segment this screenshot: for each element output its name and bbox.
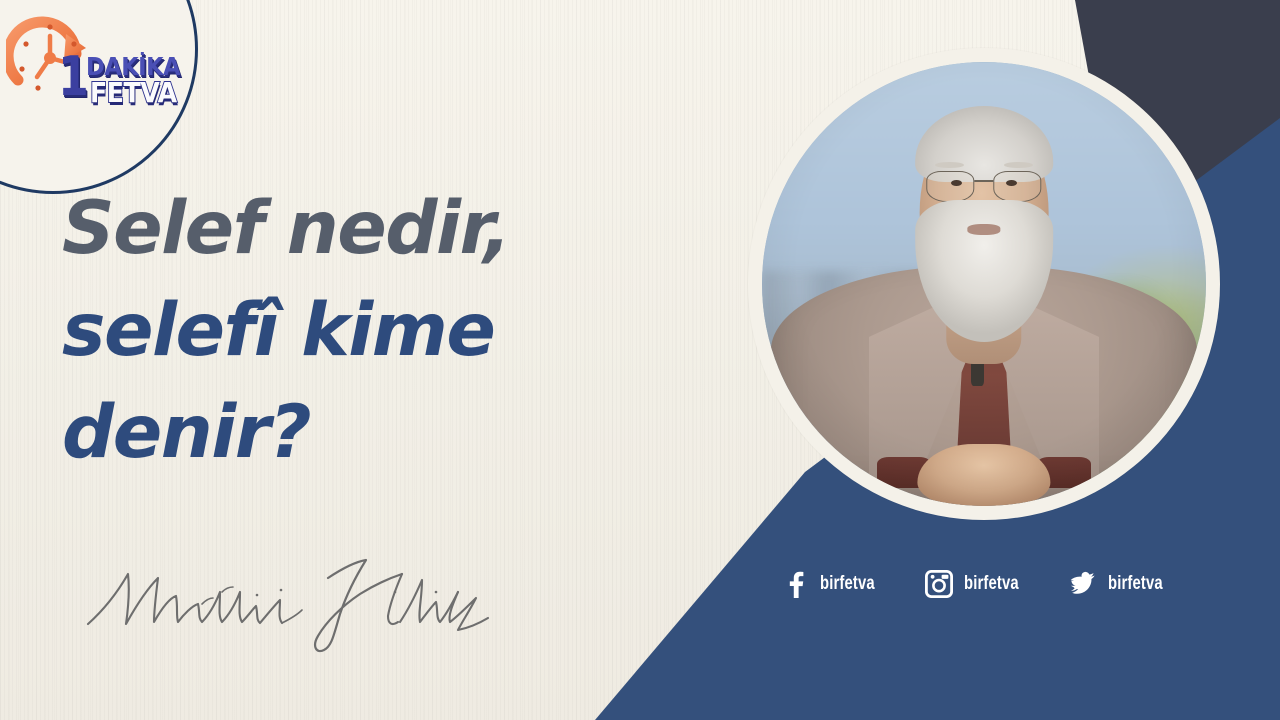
headline-line-3: denir?	[62, 382, 682, 484]
twitter-handle: birfetva	[1108, 573, 1163, 595]
portrait-photo	[762, 62, 1206, 506]
speaker-signature	[84, 548, 504, 656]
social-item-facebook[interactable]: birfetva	[780, 569, 890, 599]
instagram-icon	[924, 569, 954, 599]
signature-script	[84, 548, 504, 656]
headline-line-2: selefî kime	[62, 280, 682, 382]
logo-word-fetva: FETVA	[90, 79, 177, 107]
logo-wordmark: 1 DAKİKA FETVA	[58, 44, 186, 116]
twitter-bird-icon	[1068, 569, 1098, 599]
social-item-instagram[interactable]: birfetva	[924, 569, 1034, 599]
headline-line-1: Selef nedir,	[62, 178, 682, 280]
instagram-handle: birfetva	[964, 573, 1019, 595]
social-links-row: birfetva birfetva birfetva	[780, 560, 1210, 608]
facebook-handle: birfetva	[820, 573, 875, 595]
headline: Selef nedir, selefî kime denir?	[62, 178, 682, 484]
video-thumbnail-stage: 1 DAKİKA FETVA Selef nedir, selefî kime …	[0, 0, 1280, 720]
portrait-vignette	[762, 62, 1206, 506]
logo-numeral: 1	[58, 50, 89, 104]
brand-logo[interactable]: 1 DAKİKA FETVA	[6, 14, 181, 119]
facebook-icon	[780, 569, 810, 599]
social-item-twitter[interactable]: birfetva	[1068, 569, 1178, 599]
